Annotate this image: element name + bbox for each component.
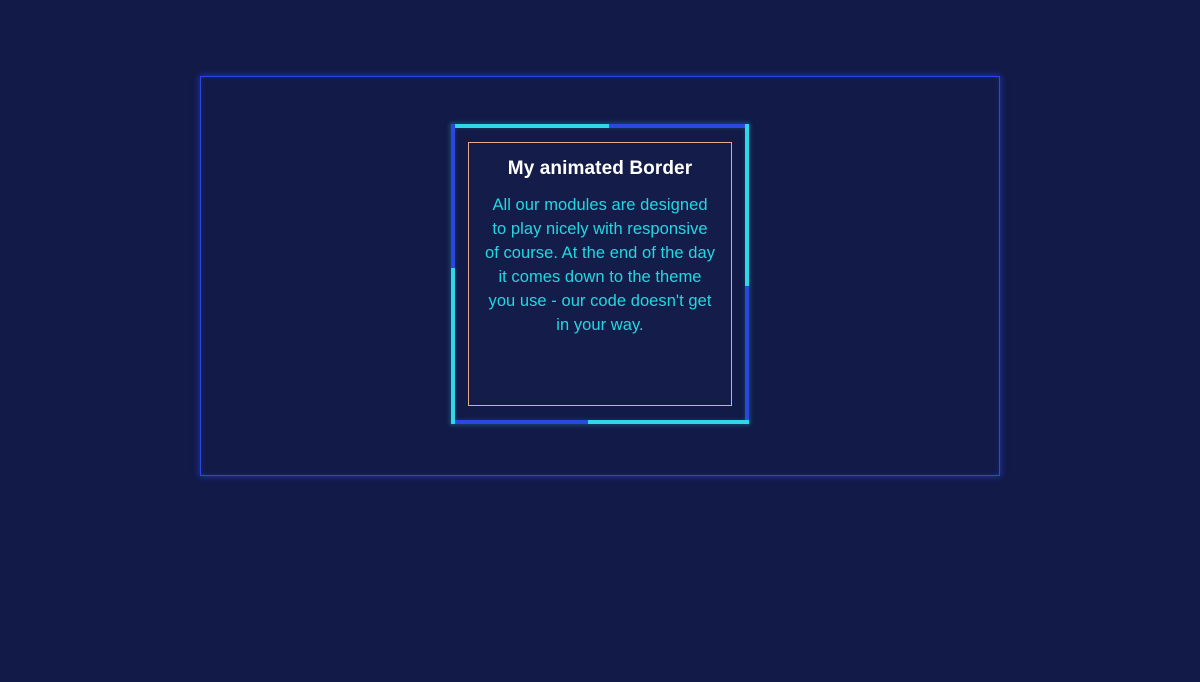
- body-line: it comes down to the theme: [485, 265, 715, 289]
- body-line: of course. At the end of the day: [485, 241, 715, 265]
- border-edge-bottom: [451, 420, 749, 424]
- body-line: to play nicely with responsive: [485, 217, 715, 241]
- border-edge-top: [451, 124, 749, 128]
- border-edge-left: [451, 124, 455, 424]
- body-line: All our modules are designed: [485, 193, 715, 217]
- body-line: you use - our code doesn't get: [485, 289, 715, 313]
- animated-border-card: My animated Border All our modules are d…: [451, 124, 749, 424]
- card-body-text: All our modules are designed to play nic…: [485, 193, 715, 337]
- outer-frame-container: My animated Border All our modules are d…: [200, 76, 1000, 476]
- border-edge-right: [745, 124, 749, 424]
- body-line: in your way.: [485, 313, 715, 337]
- card-inner-panel: My animated Border All our modules are d…: [468, 142, 732, 406]
- card-title: My animated Border: [485, 157, 715, 182]
